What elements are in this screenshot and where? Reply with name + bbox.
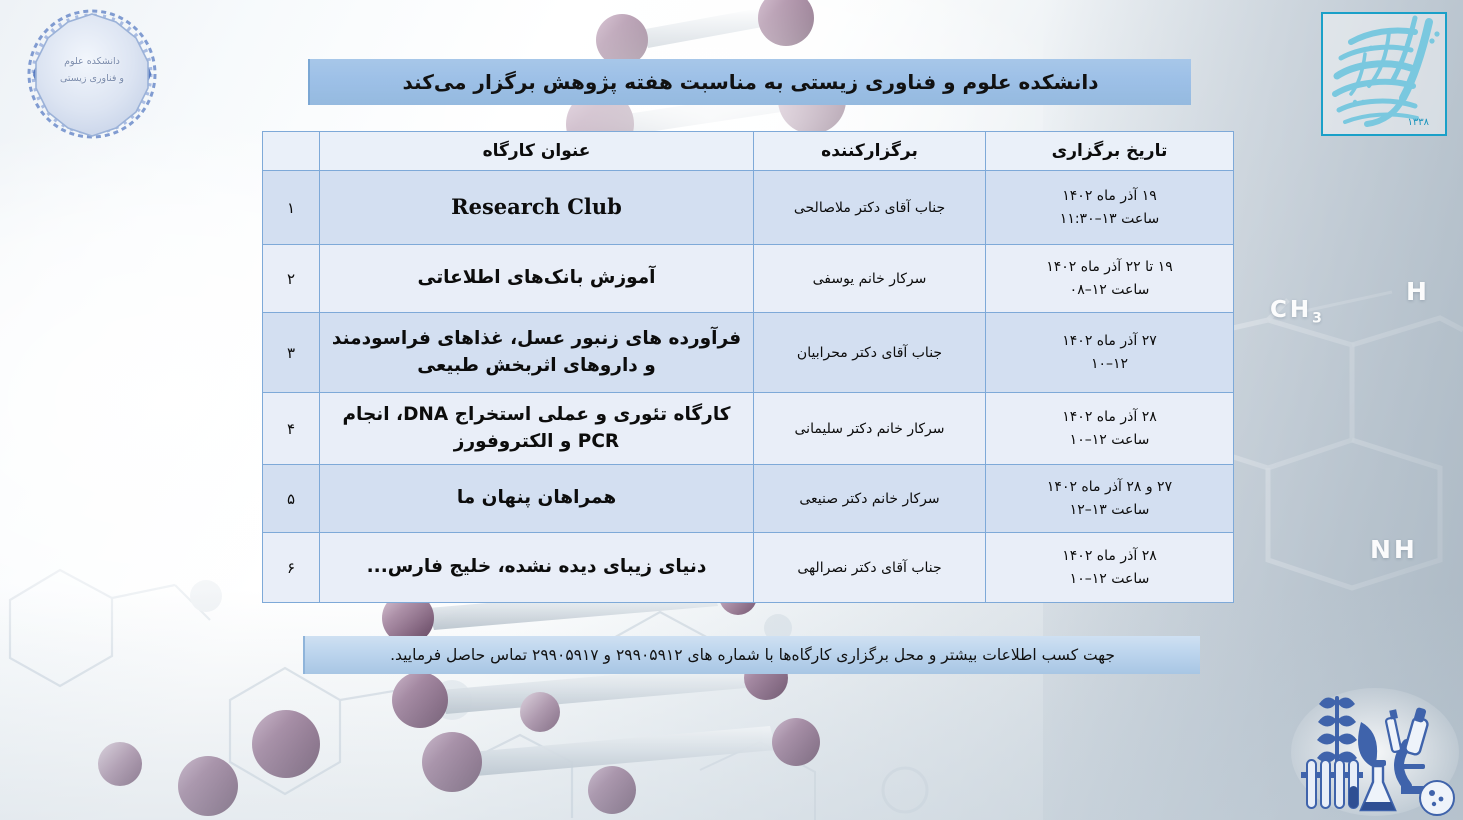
cell-number: ۶ [263,533,320,603]
chem-label-ch3: CH3 [1270,297,1322,327]
date-line-2: ساعت ۱۲–۱۰ [994,568,1225,590]
date-line-2: ساعت ۱۲–۱۰ [994,429,1225,451]
column-header-num [263,132,320,171]
poster-slide: CH3 H NH [0,0,1463,820]
cell-title: فرآورده های زنبور عسل، غذاهای فراسودمند … [320,313,754,393]
faculty-seal-text: دانشکده علوم و فناوری زیستی [12,54,172,87]
date-line-2: ساعت ۱۲–۰۸ [994,279,1225,301]
chem-ch3-text: CH [1270,297,1312,323]
table-row: ۲۸ آذر ماه ۱۴۰۲ ساعت ۱۲–۱۰ جناب آقای دکت… [263,533,1234,603]
column-header-host: برگزارکننده [754,132,986,171]
faculty-seal-line2: و فناوری زیستی [12,71,172,88]
table-row: ۱۹ تا ۲۲ آذر ماه ۱۴۰۲ ساعت ۱۲–۰۸ سرکار خ… [263,245,1234,313]
table-row: ۲۷ و ۲۸ آذر ماه ۱۴۰۲ ساعت ۱۳–۱۲ سرکار خا… [263,465,1234,533]
chem-label-nh: NH [1370,535,1418,564]
table-row: ۱۹ آذر ماه ۱۴۰۲ ساعت ۱۳–۱۱:۳۰ جناب آقای … [263,171,1234,245]
cell-date: ۲۷ آذر ماه ۱۴۰۲ ۱۲–۱۰ [986,313,1234,393]
title-banner: دانشکده علوم و فناوری زیستی به مناسبت هف… [308,59,1191,105]
university-logo: ۱۳۳۸ [1311,2,1455,152]
workshops-table: تاریخ برگزاری برگزارکننده عنوان کارگاه ۱… [262,131,1234,603]
table-row: ۲۸ آذر ماه ۱۴۰۲ ساعت ۱۲–۱۰ سرکار خانم دک… [263,393,1234,465]
cell-title: همراهان پنهان ما [320,465,754,533]
faculty-seal: دانشکده علوم و فناوری زیستی [12,6,172,146]
cell-host: سرکار خانم دکتر سلیمانی [754,393,986,465]
workshops-table-head: تاریخ برگزاری برگزارکننده عنوان کارگاه [263,132,1234,171]
cell-date: ۱۹ آذر ماه ۱۴۰۲ ساعت ۱۳–۱۱:۳۰ [986,171,1234,245]
biotechnology-illustration-icon [1289,686,1461,818]
footer-banner-text: جهت کسب اطلاعات بیشتر و محل برگزاری کارگ… [390,646,1115,664]
footer-banner: جهت کسب اطلاعات بیشتر و محل برگزاری کارگ… [303,636,1200,674]
cell-date: ۲۸ آذر ماه ۱۴۰۲ ساعت ۱۲–۱۰ [986,393,1234,465]
column-header-date: تاریخ برگزاری [986,132,1234,171]
date-line-2: ۱۲–۱۰ [994,353,1225,375]
cell-host: جناب آقای دکتر محرابیان [754,313,986,393]
column-header-title: عنوان کارگاه [320,132,754,171]
date-line-1: ۲۸ آذر ماه ۱۴۰۲ [994,545,1225,567]
cell-date: ۲۸ آذر ماه ۱۴۰۲ ساعت ۱۲–۱۰ [986,533,1234,603]
table-row: ۲۷ آذر ماه ۱۴۰۲ ۱۲–۱۰ جناب آقای دکتر محر… [263,313,1234,393]
cell-host: جناب آقای دکتر نصرالهی [754,533,986,603]
cell-number: ۲ [263,245,320,313]
faculty-seal-line1: دانشکده علوم [12,54,172,71]
cell-title: آموزش بانک‌های اطلاعاتی [320,245,754,313]
cell-title: دنیای زیبای دیده نشده، خلیج فارس... [320,533,754,603]
date-line-2: ساعت ۱۳–۱۱:۳۰ [994,208,1225,230]
cell-title: کارگاه تئوری و عملی استخراج DNA، انجام P… [320,393,754,465]
chem-label-h: H [1406,277,1430,306]
cell-icon [1420,781,1454,815]
cell-title: Research Club [320,171,754,245]
cell-number: ۵ [263,465,320,533]
date-line-1: ۲۷ آذر ماه ۱۴۰۲ [994,330,1225,352]
cell-number: ۳ [263,313,320,393]
university-logo-year: ۱۳۳۸ [1408,117,1429,128]
title-banner-text: دانشکده علوم و فناوری زیستی به مناسبت هف… [403,70,1099,94]
cell-host: جناب آقای دکتر ملاصالحی [754,171,986,245]
date-line-1: ۱۹ آذر ماه ۱۴۰۲ [994,185,1225,207]
table-header-row: تاریخ برگزاری برگزارکننده عنوان کارگاه [263,132,1234,171]
cell-host: سرکار خانم دکتر صنیعی [754,465,986,533]
cell-number: ۴ [263,393,320,465]
workshops-table-body: ۱۹ آذر ماه ۱۴۰۲ ساعت ۱۳–۱۱:۳۰ جناب آقای … [263,171,1234,603]
chem-ch3-subscript: 3 [1312,311,1322,327]
cell-host: سرکار خانم یوسفی [754,245,986,313]
background-shade-bottom [0,590,1463,820]
cell-date: ۲۷ و ۲۸ آذر ماه ۱۴۰۲ ساعت ۱۳–۱۲ [986,465,1234,533]
date-line-1: ۱۹ تا ۲۲ آذر ماه ۱۴۰۲ [994,256,1225,278]
date-line-1: ۲۷ و ۲۸ آذر ماه ۱۴۰۲ [994,476,1225,498]
date-line-1: ۲۸ آذر ماه ۱۴۰۲ [994,406,1225,428]
biotech-logo [1289,686,1461,818]
cell-number: ۱ [263,171,320,245]
cell-date: ۱۹ تا ۲۲ آذر ماه ۱۴۰۲ ساعت ۱۲–۰۸ [986,245,1234,313]
date-line-2: ساعت ۱۳–۱۲ [994,499,1225,521]
